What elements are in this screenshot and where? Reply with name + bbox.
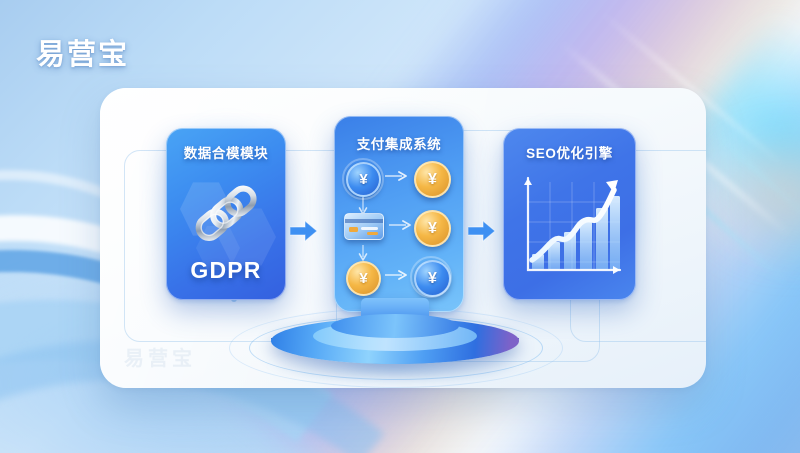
panel-watermark: 易营宝 [124, 342, 196, 371]
card-title: 支付集成系统 [334, 133, 464, 153]
podium [255, 298, 535, 394]
poster-canvas: 易营宝 易营宝 数据合模模块 [0, 0, 800, 453]
coin-gold-yen-icon: ¥ [414, 210, 451, 247]
card-data-compliance[interactable]: 数据合模模块 [166, 128, 286, 300]
card-chip [349, 227, 358, 232]
coin-gold-yen-icon: ¥ [346, 261, 381, 296]
podium-inner-disc [331, 314, 459, 338]
arrow-card2-to-card3 [468, 219, 496, 243]
arrow-right-icon [388, 220, 412, 230]
coin-halo [410, 256, 452, 298]
card-title: SEO优化引擎 [503, 142, 636, 162]
credit-card-icon [344, 213, 384, 240]
card-badge-gdpr: GDPR [166, 257, 286, 284]
growth-chart-icon [514, 166, 626, 288]
brand-logo: 易营宝 [36, 31, 129, 73]
arrow-card1-to-card2 [290, 219, 318, 243]
arrow-right-icon [384, 171, 408, 181]
card-payment-integration[interactable]: 支付集成系统 ¥ ¥ [334, 116, 464, 312]
arrow-right-icon [384, 270, 408, 280]
coin-halo [342, 158, 384, 200]
coin-gold-yen-icon: ¥ [414, 161, 451, 198]
payment-icon-grid: ¥ ¥ [344, 162, 454, 294]
card-line [367, 232, 378, 235]
card-magnetic-stripe [345, 219, 383, 223]
card-title: 数据合模模块 [166, 142, 286, 162]
chain-link-icon [184, 174, 270, 260]
card-seo-engine[interactable]: SEO优化引擎 [503, 128, 636, 300]
card-line [361, 227, 378, 230]
